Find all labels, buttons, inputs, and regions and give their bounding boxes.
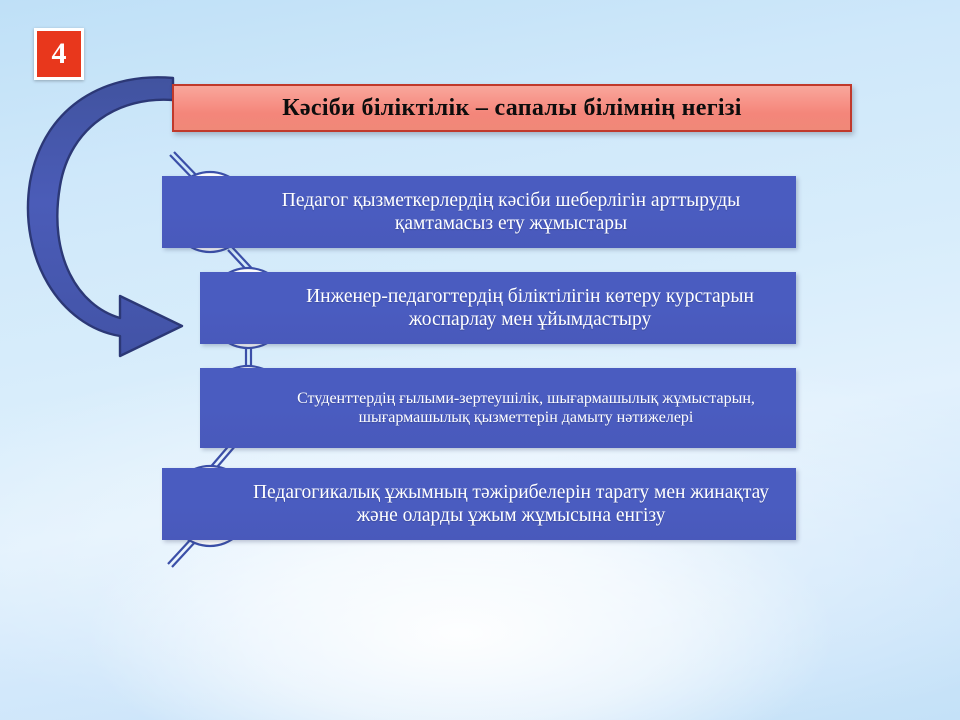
step-bar-2[interactable]: Инженер-педагогтердің біліктілігін көтер… <box>200 272 796 344</box>
step-bar-3[interactable]: Студенттердің ғылыми-зертеушілік, шығарм… <box>200 368 796 448</box>
list-item[interactable]: Студенттердің ғылыми-зертеушілік, шығарм… <box>200 368 796 448</box>
step-label-1: Педагог қызметкерлердің кәсіби шеберлігі… <box>162 189 796 236</box>
step-label-4: Педагогикалық ұжымның тәжірибелерін тара… <box>162 481 796 528</box>
slide-canvas: 4 <box>0 0 960 720</box>
step-label-2: Инженер-педагогтердің біліктілігін көтер… <box>200 285 796 332</box>
list-item[interactable]: Педагогикалық ұжымның тәжірибелерін тара… <box>162 468 796 540</box>
list-item[interactable]: Педагог қызметкерлердің кәсіби шеберлігі… <box>162 176 796 248</box>
page-title: Кәсіби біліктілік – сапалы білімнің негі… <box>282 95 742 122</box>
slide-title-banner: Кәсіби біліктілік – сапалы білімнің негі… <box>172 84 852 132</box>
curved-arrow-icon <box>28 77 182 356</box>
step-bar-1[interactable]: Педагог қызметкерлердің кәсіби шеберлігі… <box>162 176 796 248</box>
step-label-3: Студенттердің ғылыми-зертеушілік, шығарм… <box>200 389 796 427</box>
list-item[interactable]: Инженер-педагогтердің біліктілігін көтер… <box>200 272 796 344</box>
step-bar-4[interactable]: Педагогикалық ұжымның тәжірибелерін тара… <box>162 468 796 540</box>
